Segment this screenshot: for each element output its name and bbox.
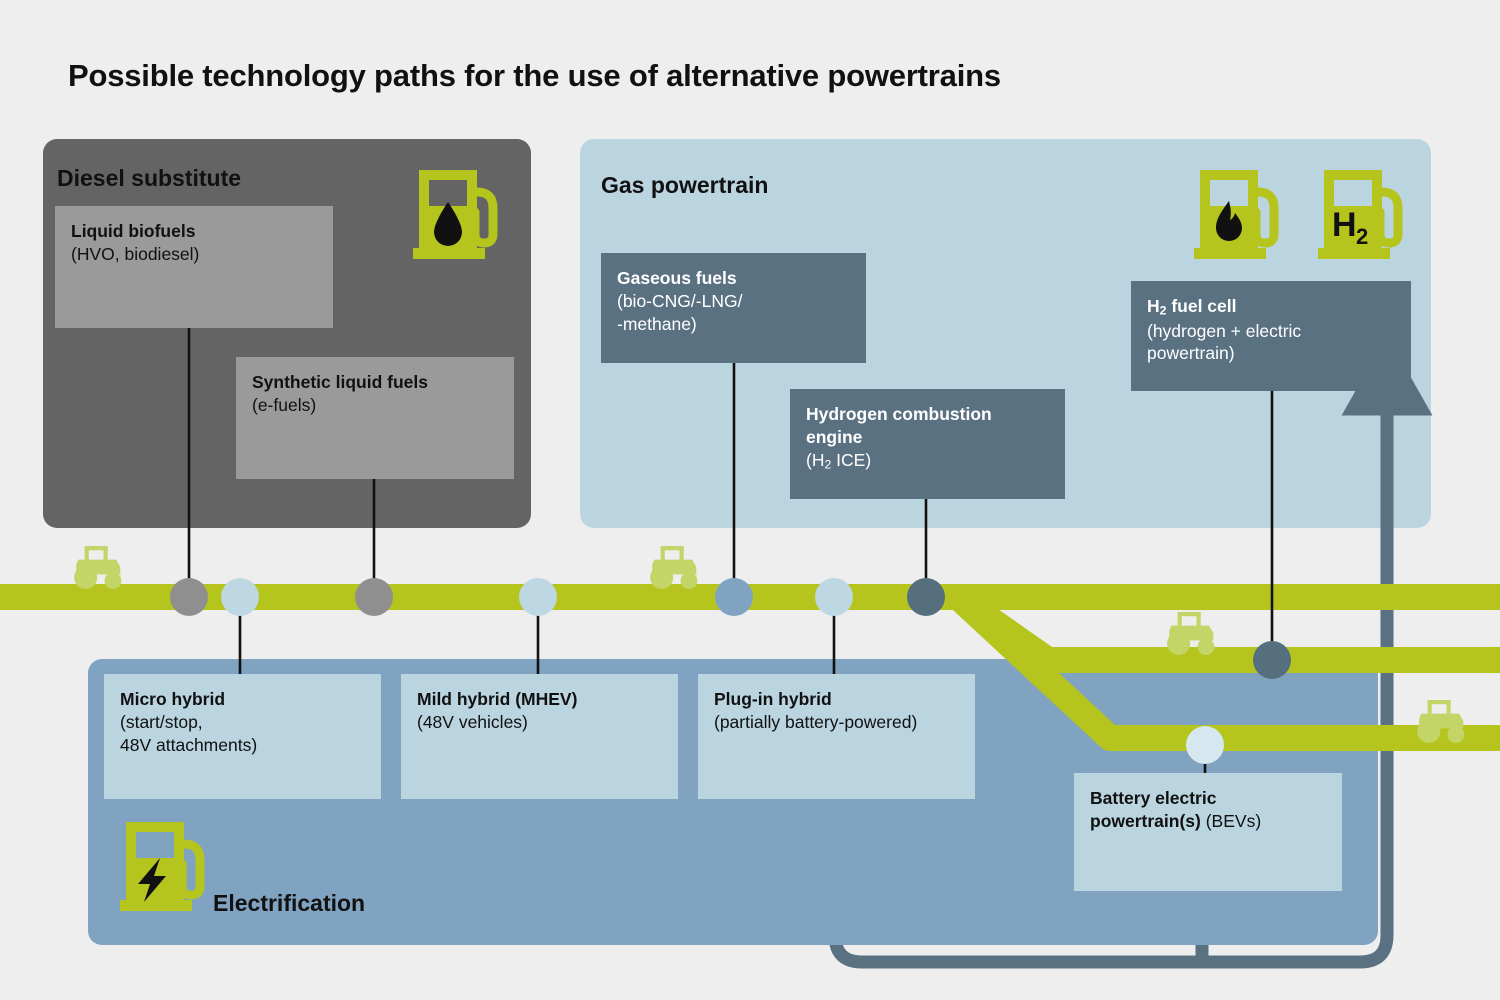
- node-gaseous-fuels[interactable]: [715, 578, 753, 616]
- box-heading: Plug-in hybrid: [714, 689, 832, 709]
- node-battery-electric[interactable]: [1186, 726, 1224, 764]
- box-subtext-line1: (start/stop,: [120, 712, 203, 732]
- box-heading-line2: powertrain(s): [1090, 811, 1201, 831]
- node-h2-ice[interactable]: [907, 578, 945, 616]
- box-heading-post: fuel cell: [1166, 296, 1236, 316]
- box-subtext: (HVO, biodiesel): [71, 244, 199, 264]
- infographic-canvas: Possible technology paths for the use of…: [0, 0, 1500, 1000]
- box-gaseous-fuels[interactable]: Gaseous fuels (bio-CNG/-LNG/ -methane): [601, 253, 866, 363]
- box-liquid-biofuels[interactable]: Liquid biofuels (HVO, biodiesel): [55, 206, 333, 328]
- box-heading-line1: Hydrogen combustion: [806, 404, 992, 424]
- node-mild-hybrid[interactable]: [519, 578, 557, 616]
- box-heading: Synthetic liquid fuels: [252, 372, 428, 392]
- box-battery-electric-powertrain[interactable]: Battery electric powertrain(s) (BEVs): [1074, 773, 1342, 891]
- box-subtext-inline: (BEVs): [1201, 811, 1261, 831]
- node-micro-hybrid[interactable]: [221, 578, 259, 616]
- box-heading: Gaseous fuels: [617, 268, 737, 288]
- box-subtext-line2: 48V attachments): [120, 735, 257, 755]
- box-heading: Micro hybrid: [120, 689, 225, 709]
- box-heading-line1: Battery electric: [1090, 788, 1216, 808]
- box-subtext-line1: (bio-CNG/-LNG/: [617, 291, 742, 311]
- box-synthetic-liquid-fuels[interactable]: Synthetic liquid fuels (e-fuels): [236, 357, 514, 479]
- box-micro-hybrid[interactable]: Micro hybrid (start/stop, 48V attachment…: [104, 674, 381, 799]
- box-plug-in-hybrid[interactable]: Plug-in hybrid (partially battery-powere…: [698, 674, 975, 799]
- box-subtext: (e-fuels): [252, 395, 316, 415]
- group-title-gas: Gas powertrain: [601, 172, 768, 199]
- box-heading: Liquid biofuels: [71, 221, 195, 241]
- box-heading: Mild hybrid (MHEV): [417, 689, 577, 709]
- box-subtext-pre: (H: [806, 450, 824, 470]
- box-heading-pre: H: [1147, 296, 1160, 316]
- group-title-diesel: Diesel substitute: [57, 165, 241, 192]
- box-subtext: (partially battery-powered): [714, 712, 917, 732]
- box-subtext: (48V vehicles): [417, 712, 528, 732]
- page-title: Possible technology paths for the use of…: [68, 58, 1001, 94]
- box-subtext-line2: -methane): [617, 314, 697, 334]
- node-h2-fuel-cell[interactable]: [1253, 641, 1291, 679]
- node-synthetic-fuels[interactable]: [355, 578, 393, 616]
- box-hydrogen-combustion-engine[interactable]: Hydrogen combustion engine (H2 ICE): [790, 389, 1065, 499]
- box-heading-line2: engine: [806, 427, 862, 447]
- box-subtext-line1: (hydrogen + electric: [1147, 321, 1301, 341]
- node-plug-in-hybrid[interactable]: [815, 578, 853, 616]
- group-title-electrification: Electrification: [213, 890, 365, 917]
- box-subtext-post: ICE): [831, 450, 871, 470]
- box-subtext-line2: powertrain): [1147, 343, 1235, 363]
- box-h2-fuel-cell[interactable]: H2 fuel cell (hydrogen + electric powert…: [1131, 281, 1411, 391]
- node-liquid-biofuels[interactable]: [170, 578, 208, 616]
- box-mild-hybrid[interactable]: Mild hybrid (MHEV) (48V vehicles): [401, 674, 678, 799]
